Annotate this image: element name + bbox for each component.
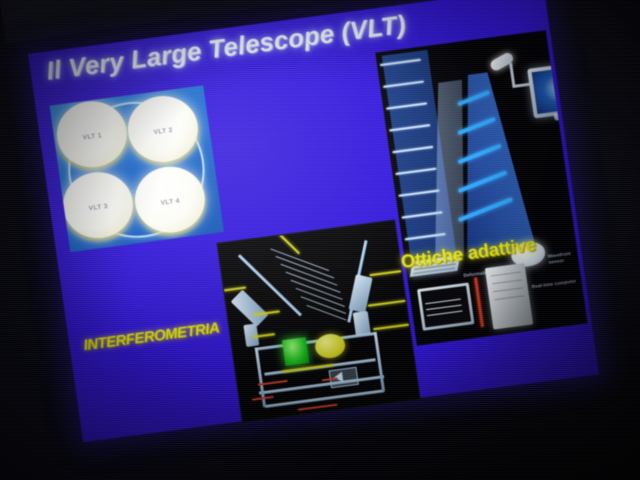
annotation-right-3 [373,324,409,331]
adaptive-optics-diagram: Deformable mirror Wavefront sensor Real-… [375,30,587,345]
left-telescope-body [231,290,269,327]
projected-slide-photo: Il Very Large Telescope (VLT) VLT 1 VLT … [0,0,640,480]
annotation-red-1 [258,380,288,386]
dome-label: VLT 3 [88,202,108,211]
dome-label: VLT 2 [153,126,173,135]
interferometry-diagram [217,220,421,424]
annotation-right-1 [369,270,401,277]
real-time-computer-callout: Real-time computer [531,278,576,290]
dome-label: VLT 4 [160,197,180,206]
slide-canvas: Il Very Large Telescope (VLT) VLT 1 VLT … [28,0,599,442]
bench-post-right [374,332,385,392]
presentation-slide: Il Very Large Telescope (VLT) VLT 1 VLT … [28,0,599,442]
real-time-computer [485,263,533,330]
wavefront-display-screen [420,286,471,328]
fringe-fan [264,243,370,331]
wavefront-display-monitor [417,282,474,330]
annotation-right-2 [368,300,406,307]
sensor-arm-vertical [509,63,515,87]
four-unit-telescope-array: VLT 1 VLT 2 VLT 3 VLT 4 [49,85,224,252]
beam-combiner-source [282,337,309,366]
control-signal-line [474,277,484,327]
annotation-red-4 [298,404,338,411]
dome-label: VLT 1 [82,132,102,141]
